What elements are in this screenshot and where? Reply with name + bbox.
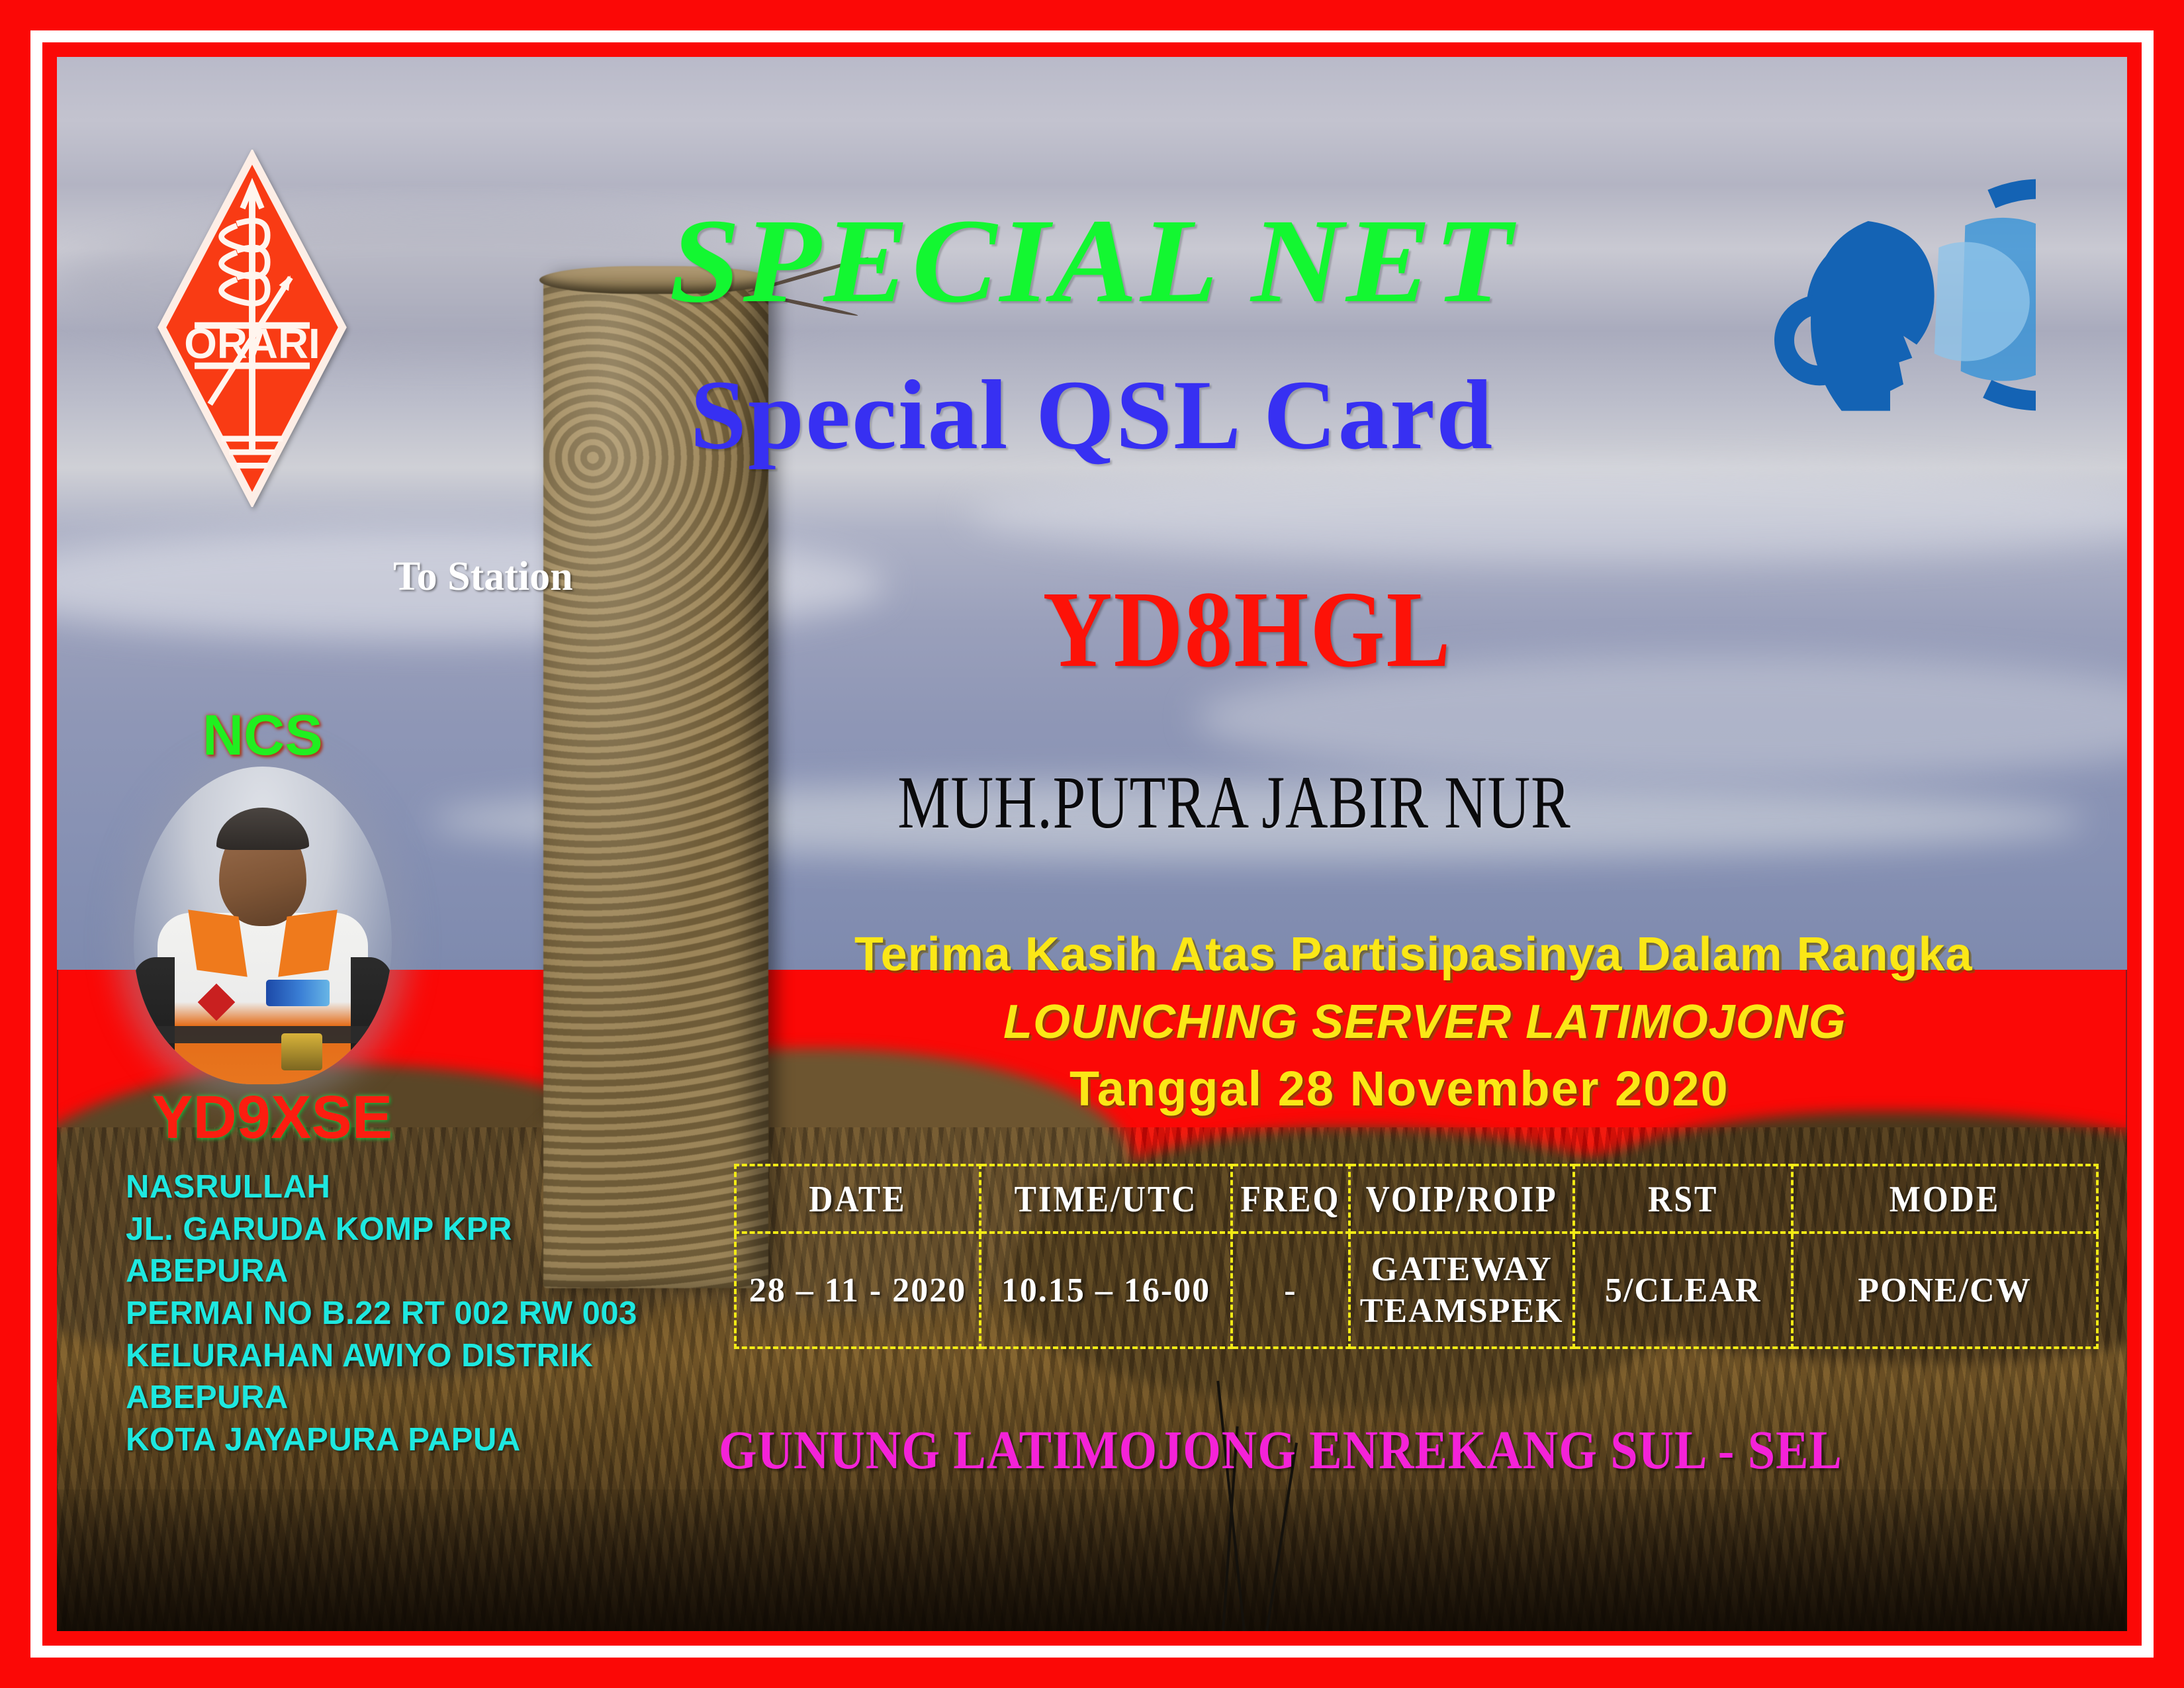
qso-details-table: DATE TIME/UTC FREQ VOIP/ROIP RST MODE 28… xyxy=(734,1164,2099,1349)
ncs-label: NCS xyxy=(203,707,323,764)
cell-voip: GATEWAY TEAMSPEK xyxy=(1349,1233,1574,1348)
postal-address-block: NASRULLAH JL. GARUDA KOMP KPR ABEPURA PE… xyxy=(126,1166,682,1462)
event-date-line: Tanggal 28 November 2020 xyxy=(1069,1064,1729,1113)
uniform-collar-left xyxy=(188,910,248,976)
page-subtitle: Special QSL Card xyxy=(57,365,2127,465)
column-header-rst: RST xyxy=(1574,1161,1792,1237)
uniform-body xyxy=(158,913,368,1084)
uniform-collar-right xyxy=(279,910,338,976)
address-line: JL. GARUDA KOMP KPR xyxy=(126,1209,682,1251)
uniform-shoulder-right xyxy=(351,957,392,1084)
column-header-voip: VOIP/ROIP xyxy=(1349,1161,1574,1237)
operator-name: MUH.PUTRA JABIR NUR xyxy=(897,765,1570,839)
to-station-label: To Station xyxy=(393,556,573,597)
uniform-belt xyxy=(134,1026,392,1043)
address-line: ABEPURA xyxy=(126,1250,682,1293)
qsl-card: ORARI xyxy=(0,0,2184,1688)
cell-mode: PONE/CW xyxy=(1792,1233,2097,1348)
card-white-frame: ORARI xyxy=(30,30,2154,1658)
uniform-patch-icon xyxy=(266,980,330,1006)
page-title: SPECIAL NET xyxy=(57,201,2127,322)
cell-voip-line2: TEAMSPEK xyxy=(1351,1290,1572,1332)
table-header-row: DATE TIME/UTC FREQ VOIP/ROIP RST MODE xyxy=(735,1165,2097,1233)
column-header-freq: FREQ xyxy=(1232,1161,1349,1237)
address-line: ABEPURA xyxy=(126,1377,682,1419)
address-line: KELURAHAN AWIYO DISTRIK xyxy=(126,1335,682,1378)
cell-rst: 5/CLEAR xyxy=(1574,1233,1792,1348)
uniform-id-card xyxy=(281,1033,322,1070)
address-line: PERMAI NO B.22 RT 002 RW 003 xyxy=(126,1293,682,1335)
location-line: GUNUNG LATIMOJONG ENREKANG SUL - SEL xyxy=(719,1423,1843,1478)
foreground-shadow xyxy=(57,1489,2127,1631)
cell-voip-line1: GATEWAY xyxy=(1351,1248,1572,1290)
column-header-mode: MODE xyxy=(1792,1161,2097,1237)
station-callsign: YD8HGL xyxy=(1043,575,1452,684)
card-inner-red-frame: ORARI xyxy=(42,42,2142,1646)
column-header-date: DATE xyxy=(735,1161,980,1237)
table-row: 28 – 11 - 2020 10.15 – 16-00 - GATEWAY T… xyxy=(735,1233,2097,1348)
column-header-time: TIME/UTC xyxy=(980,1161,1232,1237)
card-background-photo: ORARI xyxy=(57,57,2127,1631)
ncs-callsign: YD9XSE xyxy=(152,1087,392,1148)
cell-time: 10.15 – 16-00 xyxy=(980,1233,1232,1348)
address-line: KOTA JAYAPURA PAPUA xyxy=(126,1419,682,1462)
cell-freq: - xyxy=(1232,1233,1349,1348)
orari-logo-text: ORARI xyxy=(184,320,320,367)
event-line: LOUNCHING SERVER LATIMOJONG xyxy=(1003,998,1846,1046)
address-line: NASRULLAH xyxy=(126,1166,682,1209)
uniform-shoulder-left xyxy=(134,957,175,1084)
ncs-operator-photo xyxy=(134,767,392,1084)
thanks-line: Terima Kasih Atas Partisipasinya Dalam R… xyxy=(854,931,1973,978)
cell-date: 28 – 11 - 2020 xyxy=(735,1233,980,1348)
